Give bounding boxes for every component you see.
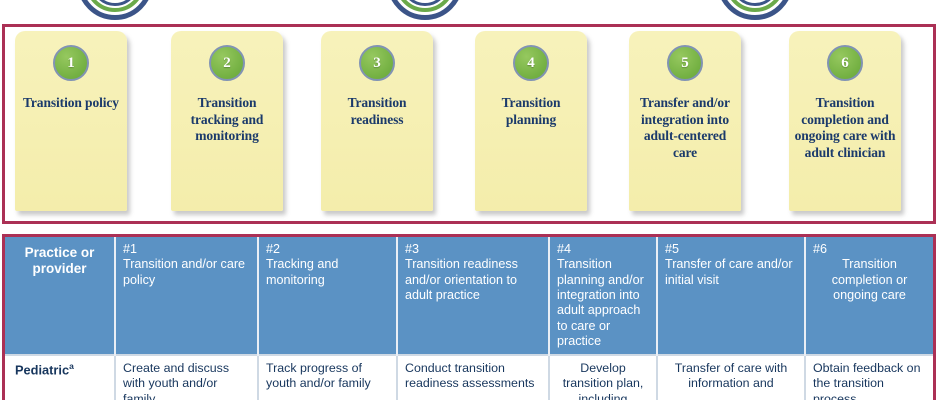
column-header-4: #4 Transition planning and/or integratio…: [549, 237, 657, 355]
column-header-6: #6 Transition completion or ongoing care: [805, 237, 933, 355]
step-card-row: 1 Transition policy 2 Transition trackin…: [5, 27, 933, 221]
column-header-2: #2 Tracking and monitoring: [258, 237, 397, 355]
step-card[interactable]: 6 Transition completion and ongoing care…: [789, 31, 901, 211]
step-card-label: Transfer and/or integration into adult-c…: [634, 95, 736, 161]
step-number-badge: 3: [359, 45, 395, 81]
column-number: #6: [813, 242, 926, 257]
column-title: Transfer of care and/or initial visit: [665, 257, 797, 288]
table-cell: Develop transition plan, including: [549, 355, 657, 400]
six-core-elements-panel: 1 Transition policy 2 Transition trackin…: [2, 24, 936, 224]
step-number-badge: 1: [53, 45, 89, 81]
step-card[interactable]: 1 Transition policy: [15, 31, 127, 211]
step-number-badge: 4: [513, 45, 549, 81]
partial-ring-logo: [717, 0, 793, 20]
step-card[interactable]: 2 Transition tracking and monitoring: [171, 31, 283, 211]
partial-ring-logo: [387, 0, 463, 20]
transition-matrix-panel: Practice or provider #1 Transition and/o…: [2, 234, 936, 400]
row-label-pediatric: Pediatrica: [5, 355, 115, 400]
row-label-footnote-marker: a: [69, 361, 74, 371]
column-title: Transition readiness and/or orientation …: [405, 257, 541, 303]
table-row: Pediatrica Create and discuss with youth…: [5, 355, 933, 400]
step-card[interactable]: 5 Transfer and/or integration into adult…: [629, 31, 741, 211]
column-number: #1: [123, 242, 250, 257]
table-header-row: Practice or provider #1 Transition and/o…: [5, 237, 933, 355]
table-cell: Obtain feedback on the transition proces…: [805, 355, 933, 400]
column-number: #3: [405, 242, 541, 257]
step-card-label: Transition policy: [20, 95, 122, 112]
column-title: Transition planning and/or integration i…: [557, 257, 649, 349]
logo-strip: [0, 0, 940, 26]
table-cell: Track progress of youth and/or family: [258, 355, 397, 400]
step-card-label: Transition tracking and monitoring: [176, 95, 278, 145]
column-title: Transition completion or ongoing care: [813, 257, 926, 303]
step-card-label: Transition planning: [480, 95, 582, 128]
step-number-badge: 5: [667, 45, 703, 81]
table-cell: Conduct transition readiness assessments: [397, 355, 549, 400]
column-title: Transition and/or care policy: [123, 257, 250, 288]
step-card-label: Transition readiness: [326, 95, 428, 128]
column-header-5: #5 Transfer of care and/or initial visit: [657, 237, 805, 355]
column-number: #2: [266, 242, 389, 257]
column-header-1: #1 Transition and/or care policy: [115, 237, 258, 355]
table-cell: Transfer of care with information and: [657, 355, 805, 400]
step-card[interactable]: 4 Transition planning: [475, 31, 587, 211]
transition-matrix-table: Practice or provider #1 Transition and/o…: [5, 237, 933, 400]
step-card[interactable]: 3 Transition readiness: [321, 31, 433, 211]
table-corner-header: Practice or provider: [5, 237, 115, 355]
column-header-3: #3 Transition readiness and/or orientati…: [397, 237, 549, 355]
row-label-text: Pediatric: [15, 362, 69, 377]
column-title: Tracking and monitoring: [266, 257, 389, 288]
column-number: #4: [557, 242, 649, 257]
table-cell: Create and discuss with youth and/or fam…: [115, 355, 258, 400]
step-number-badge: 6: [827, 45, 863, 81]
step-number-badge: 2: [209, 45, 245, 81]
partial-ring-logo: [77, 0, 153, 20]
step-card-label: Transition completion and ongoing care w…: [794, 95, 896, 161]
column-number: #5: [665, 242, 797, 257]
